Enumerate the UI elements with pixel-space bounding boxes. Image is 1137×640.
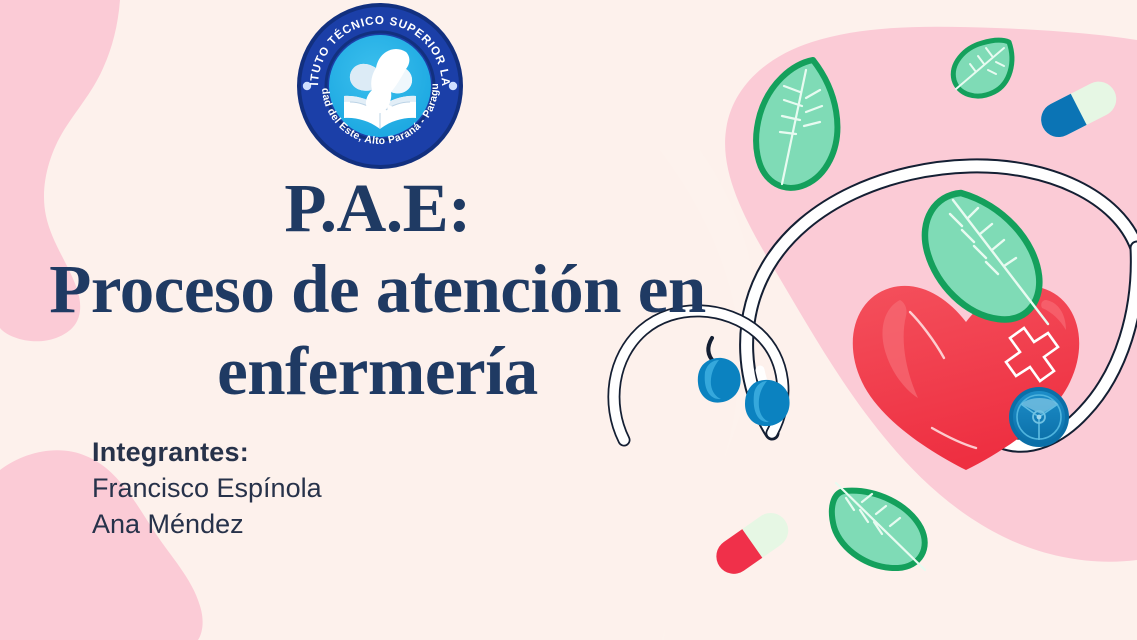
credits-member: Francisco Espínola <box>92 470 322 506</box>
red-heart <box>853 286 1079 470</box>
leaf-bottom <box>832 483 925 570</box>
heart-shine-left <box>882 300 918 398</box>
heart-highlight-stroke <box>910 312 944 358</box>
title-line-1: P.A.E: <box>0 168 755 249</box>
title-line-2: Proceso de atención en <box>0 249 755 330</box>
stethoscope-tube <box>747 166 1137 433</box>
capsule-blue-white <box>1035 76 1122 144</box>
leaf-center <box>925 193 1048 324</box>
stethoscope-earpiece-right-highlight <box>754 381 769 422</box>
credits-member: Ana Méndez <box>92 506 322 542</box>
leaf-top-small <box>953 40 1012 96</box>
stethoscope-ear-stem-right <box>760 370 768 390</box>
stethoscope-tube-lower <box>1002 248 1137 445</box>
heart-shape <box>853 286 1079 470</box>
stethoscope-chestpiece <box>1009 387 1069 447</box>
heart-shine-right <box>1041 300 1066 330</box>
chestpiece-diaphragm-wedge <box>1021 398 1058 414</box>
capsule-red-white <box>709 506 795 581</box>
page-title: P.A.E: Proceso de atención en enfermería <box>0 168 755 412</box>
stethoscope-tube-lower-outline <box>1002 248 1137 445</box>
title-line-3: enfermería <box>0 331 755 412</box>
pink-blob-right <box>725 27 1137 562</box>
heart-cross-icon <box>1006 328 1058 381</box>
heart-highlight-stroke-bottom <box>932 428 976 448</box>
credits-block: Integrantes: Francisco Espínola Ana Ménd… <box>92 434 322 543</box>
leaf-top-left <box>756 60 837 188</box>
institution-logo: INSTITUTO TÉCNICO SUPERIOR LA PAZ Ciudad… <box>294 0 466 172</box>
credits-label: Integrantes: <box>92 434 322 470</box>
chestpiece-spokes <box>1021 404 1058 440</box>
stethoscope-tube-outline <box>747 166 1137 433</box>
presentation-slide: INSTITUTO TÉCNICO SUPERIOR LA PAZ Ciudad… <box>0 0 1137 640</box>
